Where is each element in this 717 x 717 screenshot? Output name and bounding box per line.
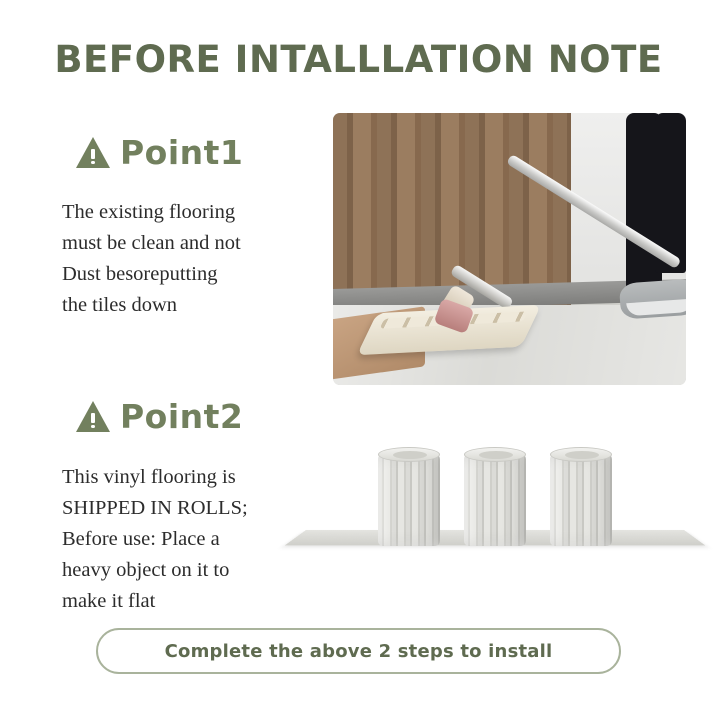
point1-body: The existing flooring must be clean and …	[62, 197, 312, 321]
point2-label: Point2	[120, 400, 243, 433]
complete-steps-label: Complete the above 2 steps to install	[165, 641, 553, 662]
vinyl-roll	[550, 454, 612, 546]
point2-image-vinyl-rolls	[300, 444, 690, 566]
promo-infographic: BEFORE INTALLLATION NOTE Point1 The exis…	[0, 0, 717, 717]
vinyl-roll	[464, 454, 526, 546]
point2-body: This vinyl flooring is SHIPPED IN ROLLS;…	[62, 462, 312, 617]
point1-image-mopping-floor	[333, 113, 686, 385]
vinyl-roll	[378, 454, 440, 546]
slipper	[619, 278, 686, 319]
warning-triangle-icon	[76, 137, 110, 168]
wall-wood-panel	[333, 113, 571, 305]
complete-steps-button[interactable]: Complete the above 2 steps to install	[96, 628, 621, 674]
point1-heading: Point1	[76, 136, 243, 169]
point2-heading: Point2	[76, 400, 243, 433]
point1-label: Point1	[120, 136, 243, 169]
page-title: BEFORE INTALLLATION NOTE	[0, 38, 717, 81]
warning-triangle-icon	[76, 401, 110, 432]
